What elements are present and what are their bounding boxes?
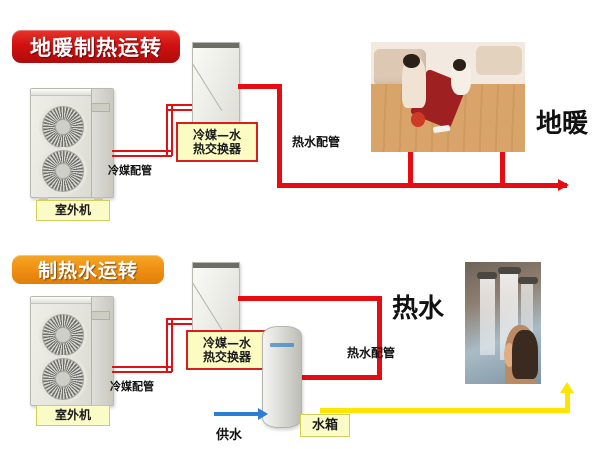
hot-water-pipe-bottom-to-tank [298,375,382,380]
water-supply-arrow-icon [258,408,268,420]
outdoor-unit-label-bottom: 室外机 [36,405,110,426]
water-tank [262,326,302,428]
outdoor-unit-top [30,88,114,198]
destination-label-floor-heating: 地暖 [536,103,588,140]
tank-outlet-pipe-riser [565,392,570,412]
photo-shower [465,262,541,384]
fan-grille-icon [39,311,87,359]
hot-water-pipe-bottom-out [238,296,382,301]
hot-water-pipe-label-top: 热水配管 [292,133,340,150]
destination-label-hot-water: 热水 [392,288,444,325]
brand-logo [91,103,110,112]
water-supply-label: 供水 [216,424,242,443]
hot-water-pipe-top-run [277,183,567,188]
refrigerant-pipe-label-top: 冷媒配管 [108,162,152,178]
outdoor-unit-bottom [30,296,114,406]
section-banner-floor-heating: 地暖制热运转 [12,30,180,63]
diagram-canvas: 地暖制热运转 室外机 冷媒配管 冷媒—水 热交换器 [0,0,600,449]
heat-exchanger-label-top: 冷媒—水 热交换器 [176,122,258,162]
flow-arrow-right-icon [558,179,569,191]
hot-water-pipe-label-bottom: 热水配管 [347,344,395,361]
photo-floor-heating [371,42,525,152]
refrigerant-pipe-label-bottom: 冷媒配管 [110,378,154,394]
fan-grille-icon [39,355,87,403]
outdoor-unit-label-top: 室外机 [36,200,110,221]
flow-arrow-up-icon [560,382,574,393]
hot-water-pipe-top-down [277,84,282,188]
hot-water-pipe-bottom-down [377,296,382,380]
water-supply-pipe [214,412,260,416]
floor-heat-riser-left [408,150,413,184]
floor-heat-riser-right [500,150,505,184]
section-banner-hot-water: 制热水运转 [12,255,164,284]
fan-grille-icon [39,103,87,151]
fan-grille-icon [39,147,87,195]
tank-outlet-pipe-run [320,408,570,413]
water-tank-label: 水箱 [300,414,350,437]
heat-exchanger-label-bottom: 冷媒—水 热交换器 [186,330,268,370]
brand-logo [270,343,294,347]
brand-logo [91,311,110,320]
hot-water-pipe-top-out [238,84,282,89]
